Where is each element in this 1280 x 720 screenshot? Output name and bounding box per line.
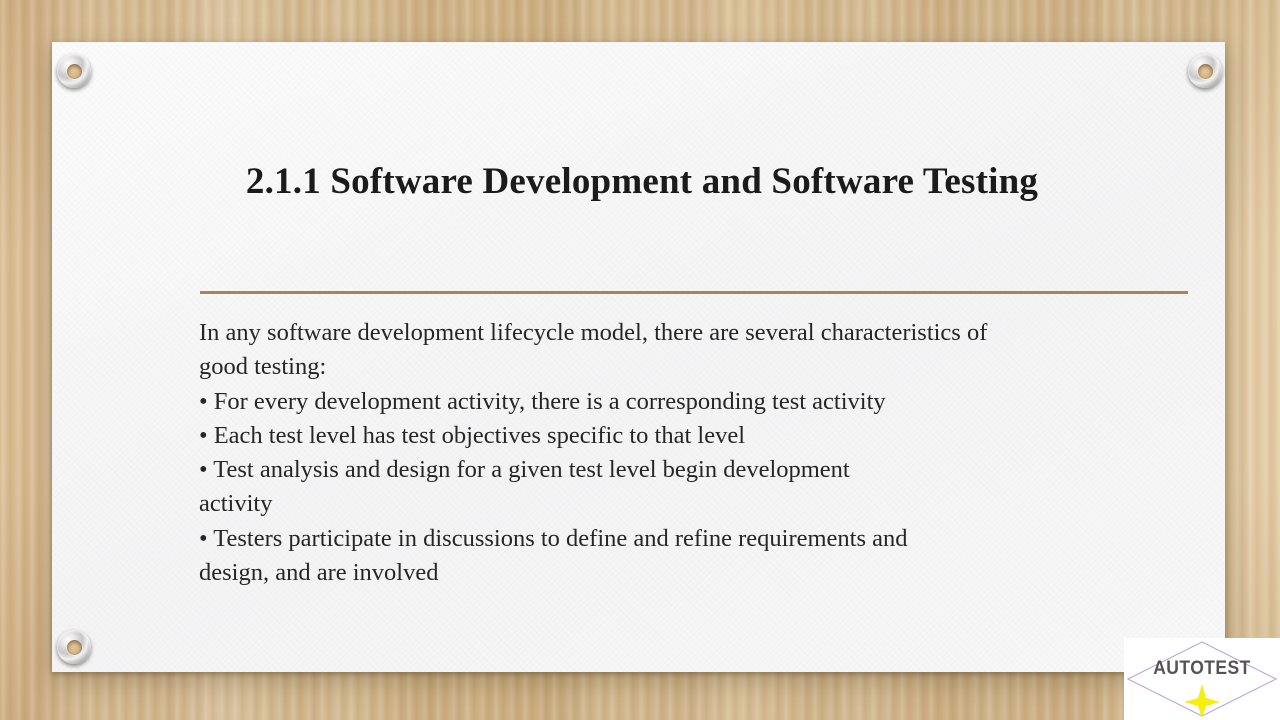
screw-icon <box>57 630 91 664</box>
slide-card: 2.1.1 Software Development and Software … <box>52 42 1225 672</box>
body-line: good testing: <box>199 350 1199 384</box>
star-icon <box>1184 684 1220 718</box>
body-line-bullet: • Testers participate in discussions to … <box>199 522 1199 556</box>
body-line-bullet: • For every development activity, there … <box>199 385 1199 419</box>
body-line: design, and are involved <box>199 556 1199 590</box>
title-divider <box>200 291 1188 294</box>
body-line: activity <box>199 487 1199 521</box>
body-line: In any software development lifecycle mo… <box>199 316 1199 350</box>
screw-icon <box>1188 54 1222 88</box>
autotest-logo: AUTOTEST <box>1124 638 1280 720</box>
slide-body-text: In any software development lifecycle mo… <box>199 316 1199 590</box>
screw-icon <box>57 54 91 88</box>
body-line-bullet: • Test analysis and design for a given t… <box>199 453 1199 487</box>
body-line-bullet: • Each test level has test objectives sp… <box>199 419 1199 453</box>
page-title: 2.1.1 Software Development and Software … <box>202 155 1082 210</box>
autotest-wordmark: AUTOTEST <box>1130 658 1274 680</box>
